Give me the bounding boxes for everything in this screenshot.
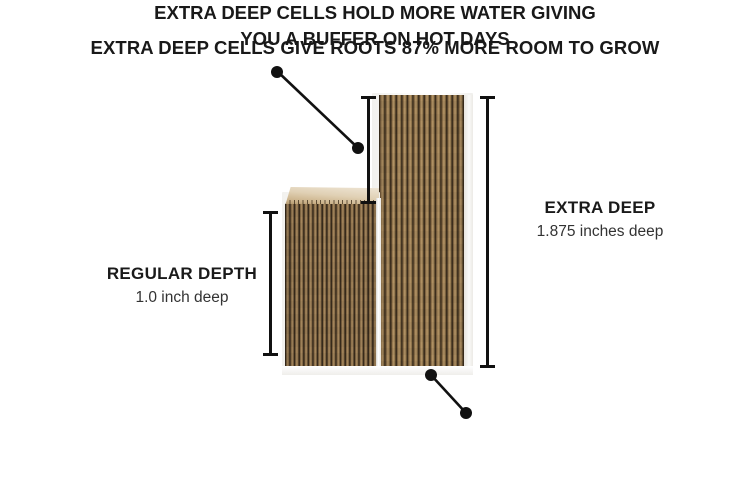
- label-regular-depth-title: REGULAR DEPTH: [82, 264, 282, 284]
- dimension-cap-bottom: [361, 201, 376, 204]
- leader-top-start-dot: [271, 66, 283, 78]
- label-regular-depth: REGULAR DEPTH 1.0 inch deep: [82, 264, 282, 307]
- bottom-caption-line-1: EXTRA DEEP CELLS HOLD MORE WATER GIVING: [0, 0, 750, 26]
- label-extra-deep: EXTRA DEEP 1.875 inches deep: [505, 198, 695, 241]
- dimension-line-extra-deep: [480, 96, 495, 368]
- extra-deep-flute-face: [379, 95, 465, 367]
- label-extra-deep-subtitle: 1.875 inches deep: [505, 223, 695, 241]
- dimension-cap-bottom: [263, 353, 278, 356]
- leader-bottom-stroke: [431, 375, 466, 413]
- leader-bottom-end-dot: [460, 407, 472, 419]
- block-seam: [376, 198, 381, 370]
- leader-top-end-dot: [352, 142, 364, 154]
- regular-depth-flute-face: [285, 204, 378, 368]
- extra-deep-side-panel: [464, 95, 473, 367]
- infographic-canvas: EXTRA DEEP CELLS GIVE ROOTS 87% MORE ROO…: [0, 0, 750, 500]
- label-regular-depth-subtitle: 1.0 inch deep: [82, 289, 282, 307]
- label-extra-deep-title: EXTRA DEEP: [505, 198, 695, 218]
- leader-line-top: [260, 55, 380, 165]
- dimension-shaft: [486, 96, 488, 368]
- leader-top-stroke: [278, 72, 358, 148]
- leader-bottom-start-dot: [425, 369, 437, 381]
- leader-line-bottom: [418, 362, 488, 428]
